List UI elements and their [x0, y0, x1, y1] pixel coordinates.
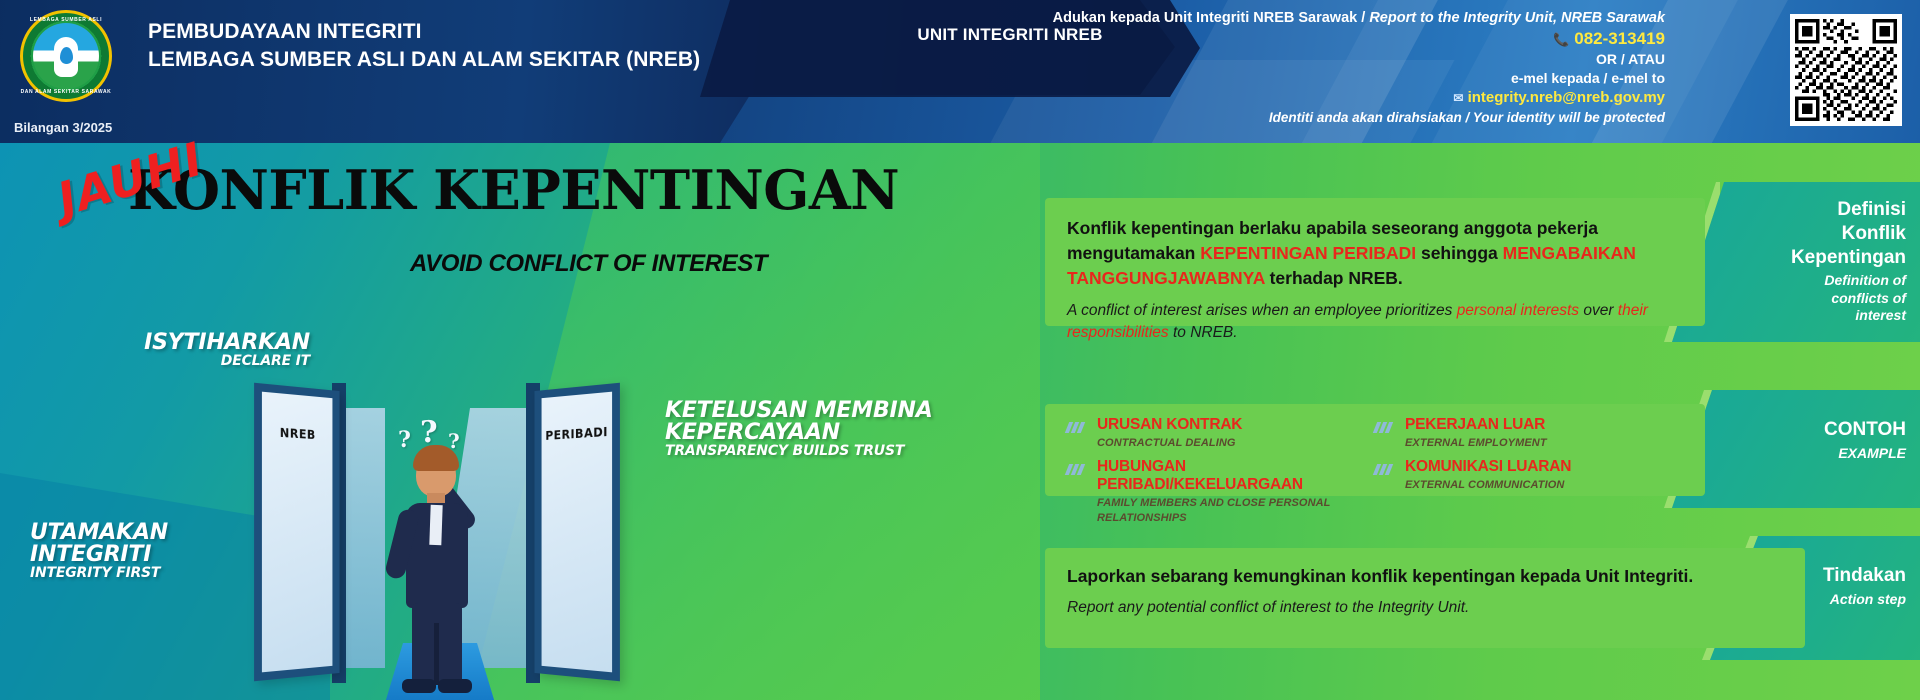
card-example: URUSAN KONTRAK CONTRACTUAL DEALING HUBUN… — [1045, 404, 1705, 496]
definition-text-en: A conflict of interest arises when an em… — [1067, 300, 1683, 344]
person-shoe-left — [402, 679, 436, 693]
definition-ms-highlight1: KEPENTINGAN PERIBADI — [1200, 243, 1416, 263]
org-line-2: LEMBAGA SUMBER ASLI DAN ALAM SEKITAR (NR… — [148, 46, 700, 74]
action-text-ms: Laporkan sebarang kemungkinan konflik ke… — [1067, 566, 1783, 587]
example-column-right: PEKERJAAN LUAR EXTERNAL EMPLOYMENT KOMUN… — [1375, 416, 1683, 533]
example-grid: URUSAN KONTRAK CONTRACTUAL DEALING HUBUN… — [1045, 404, 1705, 533]
person-shoe-right — [438, 679, 472, 693]
qr-code[interactable] — [1790, 14, 1902, 126]
action-text-en: Report any potential conflict of interes… — [1067, 599, 1783, 617]
tab-line: conflicts of — [1672, 290, 1906, 308]
example-ms: HUBUNGAN PERIBADI/KEKELUARGAAN — [1097, 458, 1303, 493]
logo-text-bottom: DAN ALAM SEKITAR SARAWAK — [20, 89, 112, 95]
example-en: EXTERNAL EMPLOYMENT — [1405, 436, 1547, 450]
report-separator: / — [1361, 10, 1365, 26]
person-leg-split — [434, 623, 439, 685]
chevron-bullet-icon — [1375, 462, 1397, 473]
report-ms: Adukan kepada Unit Integriti NREB Sarawa… — [1053, 10, 1358, 26]
caption-ms: ISYTIHARKAN — [105, 332, 310, 354]
example-item-text: KOMUNIKASI LUARAN EXTERNAL COMMUNICATION — [1405, 458, 1571, 492]
page-subtitle: AVOID CONFLICT OF INTEREST — [410, 250, 767, 278]
definition-en-part3: to NREB. — [1169, 324, 1238, 341]
person-hair — [413, 445, 459, 471]
chevron-bullet-icon — [1375, 420, 1397, 431]
definition-en-part2: over — [1579, 302, 1618, 319]
person-shirt — [429, 505, 442, 545]
tab-line: Definition of — [1672, 272, 1906, 290]
door-peribadi: PERIBADI — [535, 383, 620, 682]
example-item: URUSAN KONTRAK CONTRACTUAL DEALING — [1067, 416, 1375, 450]
or-atau-label: OR / ATAU — [1053, 51, 1665, 67]
example-en: FAMILY MEMBERS AND CLOSE PERSONAL RELATI… — [1097, 496, 1375, 525]
org-line-1: PEMBUDAYAAN INTEGRITI — [148, 18, 700, 46]
example-item-text: HUBUNGAN PERIBADI/KEKELUARGAAN FAMILY ME… — [1097, 458, 1375, 525]
example-item: PEKERJAAN LUAR EXTERNAL EMPLOYMENT — [1375, 416, 1683, 450]
envelope-icon: ✉ — [1453, 91, 1463, 105]
card-definition-body: Konflik kepentingan berlaku apabila sese… — [1045, 198, 1705, 362]
example-ms: PEKERJAAN LUAR — [1405, 416, 1545, 433]
definition-text-ms: Konflik kepentingan berlaku apabila sese… — [1067, 216, 1683, 291]
organisation-title: PEMBUDAYAAN INTEGRITI LEMBAGA SUMBER ASL… — [148, 18, 700, 73]
tab-example-en: EXAMPLE — [1672, 445, 1906, 463]
email-line[interactable]: ✉ integrity.nreb@nreb.gov.my — [1053, 89, 1665, 106]
phone-line[interactable]: 📞 082-313419 — [1053, 29, 1665, 49]
tab-definition-en: Definition of conflicts of interest — [1672, 272, 1906, 325]
example-item-text: URUSAN KONTRAK CONTRACTUAL DEALING — [1097, 416, 1242, 450]
example-item: HUBUNGAN PERIBADI/KEKELUARGAAN FAMILY ME… — [1067, 458, 1375, 525]
caption-integrity-first: UTAMAKAN INTEGRITI INTEGRITY FIRST — [30, 522, 290, 580]
tab-line: Kepentingan — [1672, 246, 1906, 270]
caption-en: DECLARE IT — [105, 354, 310, 368]
privacy-note: Identiti anda akan dirahsiakan / Your id… — [1053, 110, 1665, 125]
card-definition: Konflik kepentingan berlaku apabila sese… — [1045, 198, 1705, 326]
caption-declare-it: ISYTIHARKAN DECLARE IT — [105, 332, 310, 368]
tab-example-ms: CONTOH — [1672, 418, 1906, 442]
report-en: Report to the Integrity Unit, NREB Saraw… — [1369, 10, 1665, 26]
water-drop-icon — [60, 47, 73, 64]
page-title: KONFLIK KEPENTINGAN — [128, 158, 899, 222]
caption-ms: UTAMAKAN INTEGRITI — [30, 522, 290, 566]
example-ms: URUSAN KONTRAK — [1097, 416, 1242, 433]
definition-en-highlight1: personal interests — [1457, 302, 1579, 319]
tab-line: interest — [1672, 307, 1906, 325]
nreb-logo: LEMBAGA SUMBER ASLI DAN ALAM SEKITAR SAR… — [20, 10, 112, 102]
report-line: Adukan kepada Unit Integriti NREB Sarawa… — [1053, 10, 1665, 26]
phone-number: 082-313419 — [1574, 29, 1665, 48]
page-header: LEMBAGA SUMBER ASLI DAN ALAM SEKITAR SAR… — [0, 0, 1920, 143]
chevron-bullet-icon — [1067, 420, 1089, 431]
caption-transparency: KETELUSAN MEMBINA KEPERCAYAAN TRANSPAREN… — [665, 400, 995, 458]
contact-block: Adukan kepada Unit Integriti NREB Sarawa… — [1053, 10, 1665, 125]
logo-emblem — [33, 23, 99, 89]
example-item-text: PEKERJAAN LUAR EXTERNAL EMPLOYMENT — [1405, 416, 1547, 450]
chevron-bullet-icon — [1067, 462, 1089, 473]
tab-example: CONTOH EXAMPLE — [1672, 390, 1920, 508]
caption-en: TRANSPARENCY BUILDS TRUST — [665, 444, 995, 458]
definition-en-part1: A conflict of interest arises when an em… — [1067, 302, 1457, 319]
issue-number: Bilangan 3/2025 — [14, 120, 112, 135]
email-address: integrity.nreb@nreb.gov.my — [1468, 89, 1665, 106]
person-figure — [380, 443, 500, 700]
example-column-left: URUSAN KONTRAK CONTRACTUAL DEALING HUBUN… — [1067, 416, 1375, 533]
example-en: CONTRACTUAL DEALING — [1097, 436, 1242, 450]
example-ms: KOMUNIKASI LUARAN — [1405, 458, 1571, 475]
example-item: KOMUNIKASI LUARAN EXTERNAL COMMUNICATION — [1375, 458, 1683, 492]
definition-ms-part3: terhadap NREB. — [1265, 268, 1403, 288]
caption-en: INTEGRITY FIRST — [30, 566, 290, 580]
card-action: Laporkan sebarang kemungkinan konflik ke… — [1045, 548, 1805, 648]
poster-root: LEMBAGA SUMBER ASLI DAN ALAM SEKITAR SAR… — [0, 0, 1920, 700]
card-action-body: Laporkan sebarang kemungkinan konflik ke… — [1045, 548, 1805, 635]
example-en: EXTERNAL COMMUNICATION — [1405, 478, 1571, 492]
logo-text-top: LEMBAGA SUMBER ASLI — [20, 17, 112, 23]
caption-ms: KETELUSAN MEMBINA KEPERCAYAAN — [665, 400, 995, 444]
definition-ms-part2: sehingga — [1416, 243, 1503, 263]
phone-icon: 📞 — [1553, 32, 1569, 47]
email-label: e-mel kepada / e-mel to — [1053, 70, 1665, 86]
